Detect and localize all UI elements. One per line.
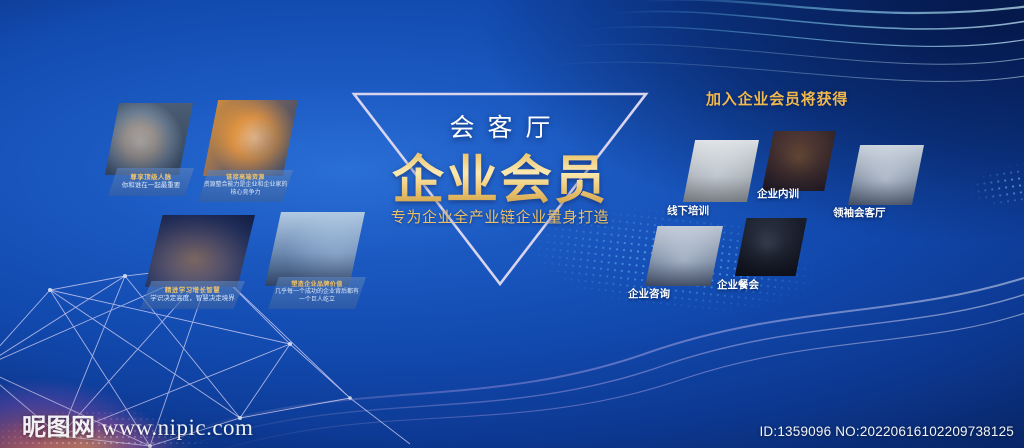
service-label-1: 线下培训: [667, 203, 709, 218]
service-photo-5: [735, 218, 807, 276]
service-photo-3: [848, 145, 924, 205]
classroom-photo: [762, 131, 836, 191]
service-label-5: 企业餐会: [717, 277, 759, 292]
chess-strategy-photo: [203, 100, 298, 176]
benefit-title-3: 精进学习增长智慧: [165, 287, 220, 295]
benefit-photo-3: [145, 215, 255, 287]
center-main-title: 企业会员: [340, 138, 660, 213]
handshake-photo: [105, 103, 193, 175]
benefit-title-1: 尊享顶级人脉: [130, 174, 171, 182]
asset-id-text: ID:1359096 NO:20220616102209738125: [759, 424, 1014, 439]
service-label-3: 领袖会客厅: [833, 205, 886, 220]
seminar-audience-photo: [145, 215, 255, 287]
watermark: 昵图网 www.nipic.com: [22, 407, 253, 442]
service-photo-4: [645, 226, 723, 286]
benefit-photo-2: [203, 100, 298, 176]
service-photo-2: [762, 131, 836, 191]
center-subtitle: 专为企业全产业链企业量身打造: [340, 206, 660, 227]
benefit-photo-1: [105, 103, 193, 175]
benefit-caption-2: 链接高端资源 资源整合能力是企业和企业家的核心竞争力: [198, 170, 293, 202]
poster-canvas: 尊享顶级人脉 你和谁在一起最重要 链接高端资源 资源整合能力是企业和企业家的核心…: [0, 0, 1024, 448]
service-label-2: 企业内训: [757, 186, 799, 201]
stairs-training-photo: [683, 140, 759, 202]
benefit-desc-3: 学识决定高度，智慧决定境界: [150, 295, 235, 303]
benefit-caption-3: 精进学习增长智慧 学识决定高度，智慧决定境界: [140, 281, 245, 309]
center-title-block: 会客厅 企业会员 专为企业全产业链企业量身打造: [340, 88, 660, 288]
executives-photo: [848, 145, 924, 205]
watermark-url: www.nipic.com: [102, 415, 254, 441]
benefit-desc-4: 几乎每一个成功的企业背后都有一个巨人屹立: [273, 289, 361, 304]
benefit-desc-2: 资源整合能力是企业和企业家的核心竞争力: [203, 182, 288, 197]
watermark-site-name: 昵图网: [22, 407, 96, 442]
service-label-4: 企业咨询: [628, 286, 670, 301]
benefit-caption-1: 尊享顶级人脉 你和谁在一起最重要: [108, 168, 194, 196]
banquet-photo: [735, 218, 807, 276]
service-photo-1: [683, 140, 759, 202]
right-heading: 加入企业会员将获得: [706, 88, 848, 109]
benefit-desc-1: 你和谁在一起最重要: [122, 182, 181, 190]
consulting-photo: [645, 226, 723, 286]
